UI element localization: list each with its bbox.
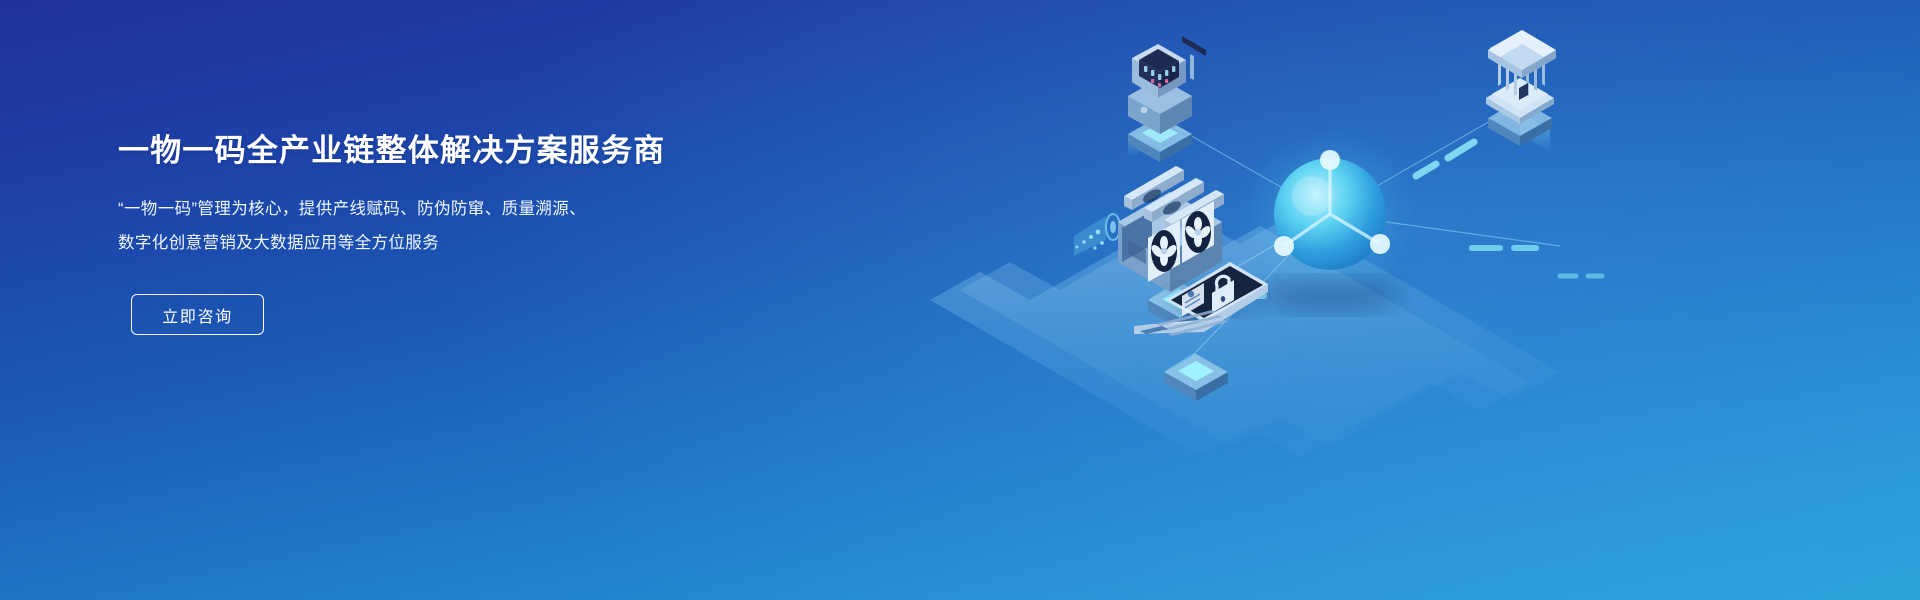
page-title: 一物一码全产业链整体解决方案服务商 <box>118 132 738 171</box>
consult-now-button[interactable]: 立即咨询 <box>131 294 264 335</box>
hero-illustration <box>860 0 1920 600</box>
hero-subtitle-line-2: 数字化创意营销及大数据应用等全方位服务 <box>118 227 738 261</box>
hero-subtitle-line-1: “一物一码”管理为核心，提供产线赋码、防伪防窜、质量溯源、 <box>118 193 738 227</box>
hero-copy-block: 一物一码全产业链整体解决方案服务商 “一物一码”管理为核心，提供产线赋码、防伪防… <box>118 132 738 335</box>
hero-subtitle: “一物一码”管理为核心，提供产线赋码、防伪防窜、质量溯源、 数字化创意营销及大数… <box>118 193 738 261</box>
platform-stack <box>930 216 1560 456</box>
hero-banner: 一物一码全产业链整体解决方案服务商 “一物一码”管理为核心，提供产线赋码、防伪防… <box>0 0 1920 600</box>
bank-building-icon <box>1486 30 1556 152</box>
airflow-particles <box>1074 214 1120 256</box>
pos-terminal-icon <box>1128 36 1206 162</box>
